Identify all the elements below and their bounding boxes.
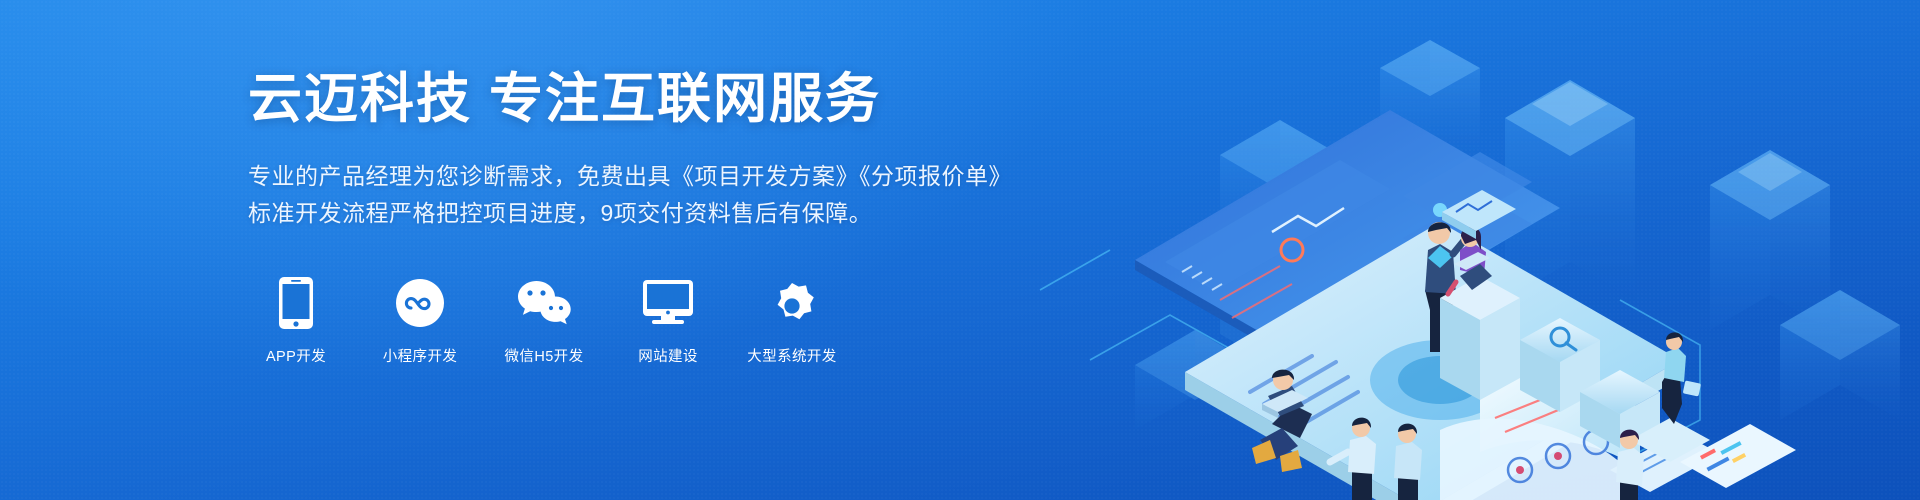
service-item-large-system[interactable]: 大型系统开发 — [744, 274, 840, 366]
service-label: 微信H5开发 — [505, 345, 584, 366]
service-list: APP开发 小程序开发 — [248, 274, 1108, 366]
service-item-website[interactable]: 网站建设 — [620, 274, 716, 366]
subtitle-line-2: 标准开发流程严格把控项目进度，9项交付资料售后有保障。 — [248, 195, 1108, 232]
mini-program-icon — [391, 274, 449, 332]
service-label: 网站建设 — [638, 345, 698, 366]
mobile-phone-icon — [267, 274, 325, 332]
gear-icon — [763, 274, 821, 332]
hero-subtitle: 专业的产品经理为您诊断需求，免费出具《项目开发方案》《分项报价单》 标准开发流程… — [248, 158, 1108, 233]
wechat-bubbles-icon — [515, 274, 573, 332]
service-label: 大型系统开发 — [747, 345, 836, 366]
desktop-monitor-icon — [639, 274, 697, 332]
service-label: 小程序开发 — [383, 345, 458, 366]
service-label: APP开发 — [266, 345, 326, 366]
page-title: 云迈科技 专注互联网服务 — [248, 68, 1108, 132]
hero-content: 云迈科技 专注互联网服务 专业的产品经理为您诊断需求，免费出具《项目开发方案》《… — [248, 68, 1108, 366]
hero-banner: 云迈科技 专注互联网服务 专业的产品经理为您诊断需求，免费出具《项目开发方案》《… — [0, 0, 1920, 500]
service-item-wechat-h5[interactable]: 微信H5开发 — [496, 274, 592, 366]
subtitle-line-1: 专业的产品经理为您诊断需求，免费出具《项目开发方案》《分项报价单》 — [248, 158, 1108, 195]
service-item-mini-program[interactable]: 小程序开发 — [372, 274, 468, 366]
service-item-app[interactable]: APP开发 — [248, 274, 344, 366]
